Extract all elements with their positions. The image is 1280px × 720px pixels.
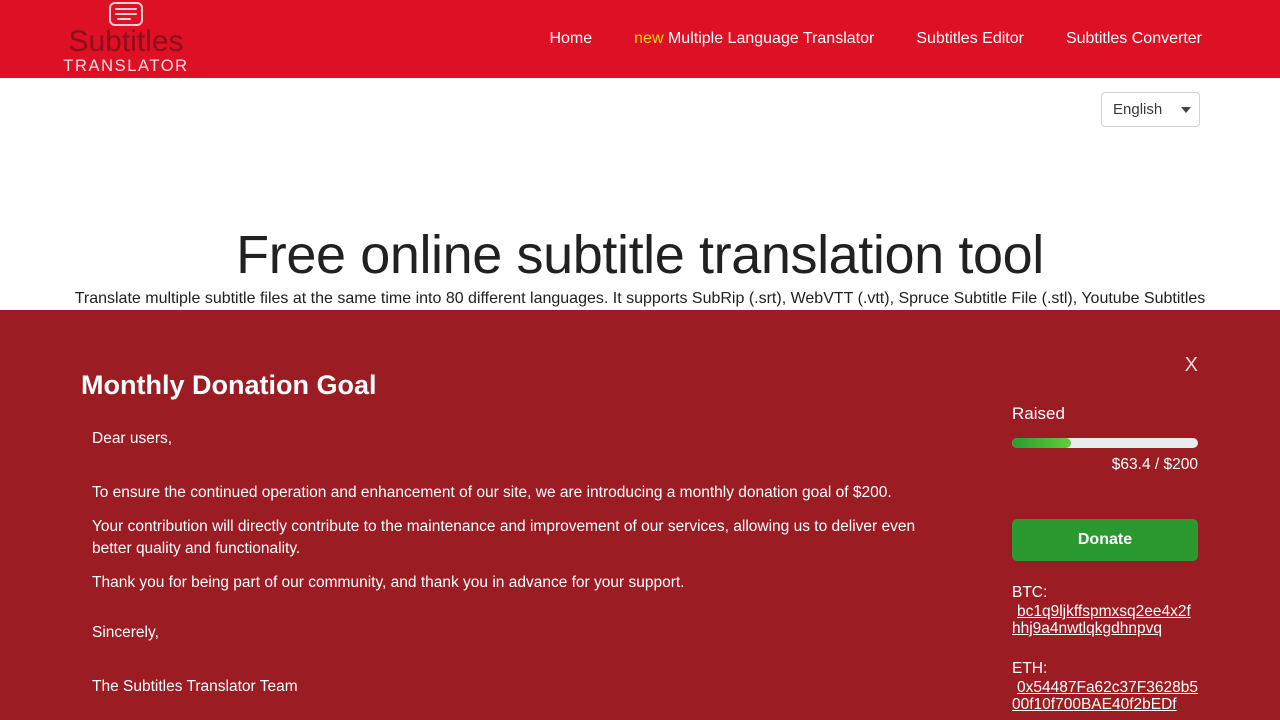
nav-item-subtitles-converter[interactable]: Subtitles Converter <box>1066 30 1202 48</box>
nav-item-multiple-language-translator[interactable]: new Multiple Language Translator <box>634 30 874 48</box>
language-selector-row: English <box>0 78 1280 138</box>
btc-address-link[interactable]: bc1q9ljkffspmxsq2ee4x2fhhj9a4nwtlqkgdhnp… <box>1012 603 1198 637</box>
donate-button[interactable]: Donate <box>1012 519 1198 561</box>
donation-paragraph-3: Thank you for being part of our communit… <box>92 572 942 594</box>
donation-progress-fill <box>1012 438 1071 448</box>
btc-label: BTC: <box>1012 583 1198 603</box>
subtitle-box-icon <box>109 2 143 26</box>
language-select[interactable]: English <box>1101 92 1200 127</box>
donation-modal-title: Monthly Donation Goal <box>81 368 376 402</box>
raised-amount: $63.4 / $200 <box>1012 455 1198 475</box>
donation-modal: Monthly Donation Goal X Dear users, To e… <box>0 310 1280 720</box>
site-header: Subtitles TRANSLATOR Home new Multiple L… <box>0 0 1280 78</box>
brand-title: Subtitles <box>68 27 183 57</box>
brand-logo[interactable]: Subtitles TRANSLATOR <box>63 0 189 78</box>
donation-closing: Sincerely, <box>92 622 942 644</box>
btc-donation-block: BTC: bc1q9ljkffspmxsq2ee4x2fhhj9a4nwtlqk… <box>1012 583 1198 637</box>
eth-address-link[interactable]: 0x54487Fa62c37F3628b500f10f700BAE40f2bED… <box>1012 679 1198 713</box>
nav-item-home[interactable]: Home <box>549 30 592 48</box>
nav-new-badge: new <box>634 30 663 47</box>
donation-progress-bar <box>1012 438 1198 448</box>
eth-label: ETH: <box>1012 659 1198 679</box>
donation-signature: The Subtitles Translator Team <box>92 676 942 698</box>
donation-progress-panel: Raised $63.4 / $200 Donate BTC: bc1q9ljk… <box>1012 403 1198 713</box>
brand-subtitle: TRANSLATOR <box>63 57 188 75</box>
nav-item-subtitles-editor[interactable]: Subtitles Editor <box>916 30 1024 48</box>
nav-item-multiple-language-translator-label: Multiple Language Translator <box>668 30 874 47</box>
donation-modal-body: Dear users, To ensure the continued oper… <box>92 428 942 710</box>
eth-donation-block: ETH: 0x54487Fa62c37F3628b500f10f700BAE40… <box>1012 659 1198 713</box>
donation-paragraph-2: Your contribution will directly contribu… <box>92 516 942 560</box>
main-navigation: Home new Multiple Language Translator Su… <box>549 0 1202 78</box>
chevron-down-icon <box>1181 107 1191 113</box>
raised-label: Raised <box>1012 403 1198 425</box>
donation-greeting: Dear users, <box>92 428 942 450</box>
page-title: Free online subtitle translation tool <box>0 222 1280 288</box>
close-icon[interactable]: X <box>1177 350 1206 380</box>
donation-paragraph-1: To ensure the continued operation and en… <box>92 482 942 504</box>
language-select-value: English <box>1113 101 1162 118</box>
